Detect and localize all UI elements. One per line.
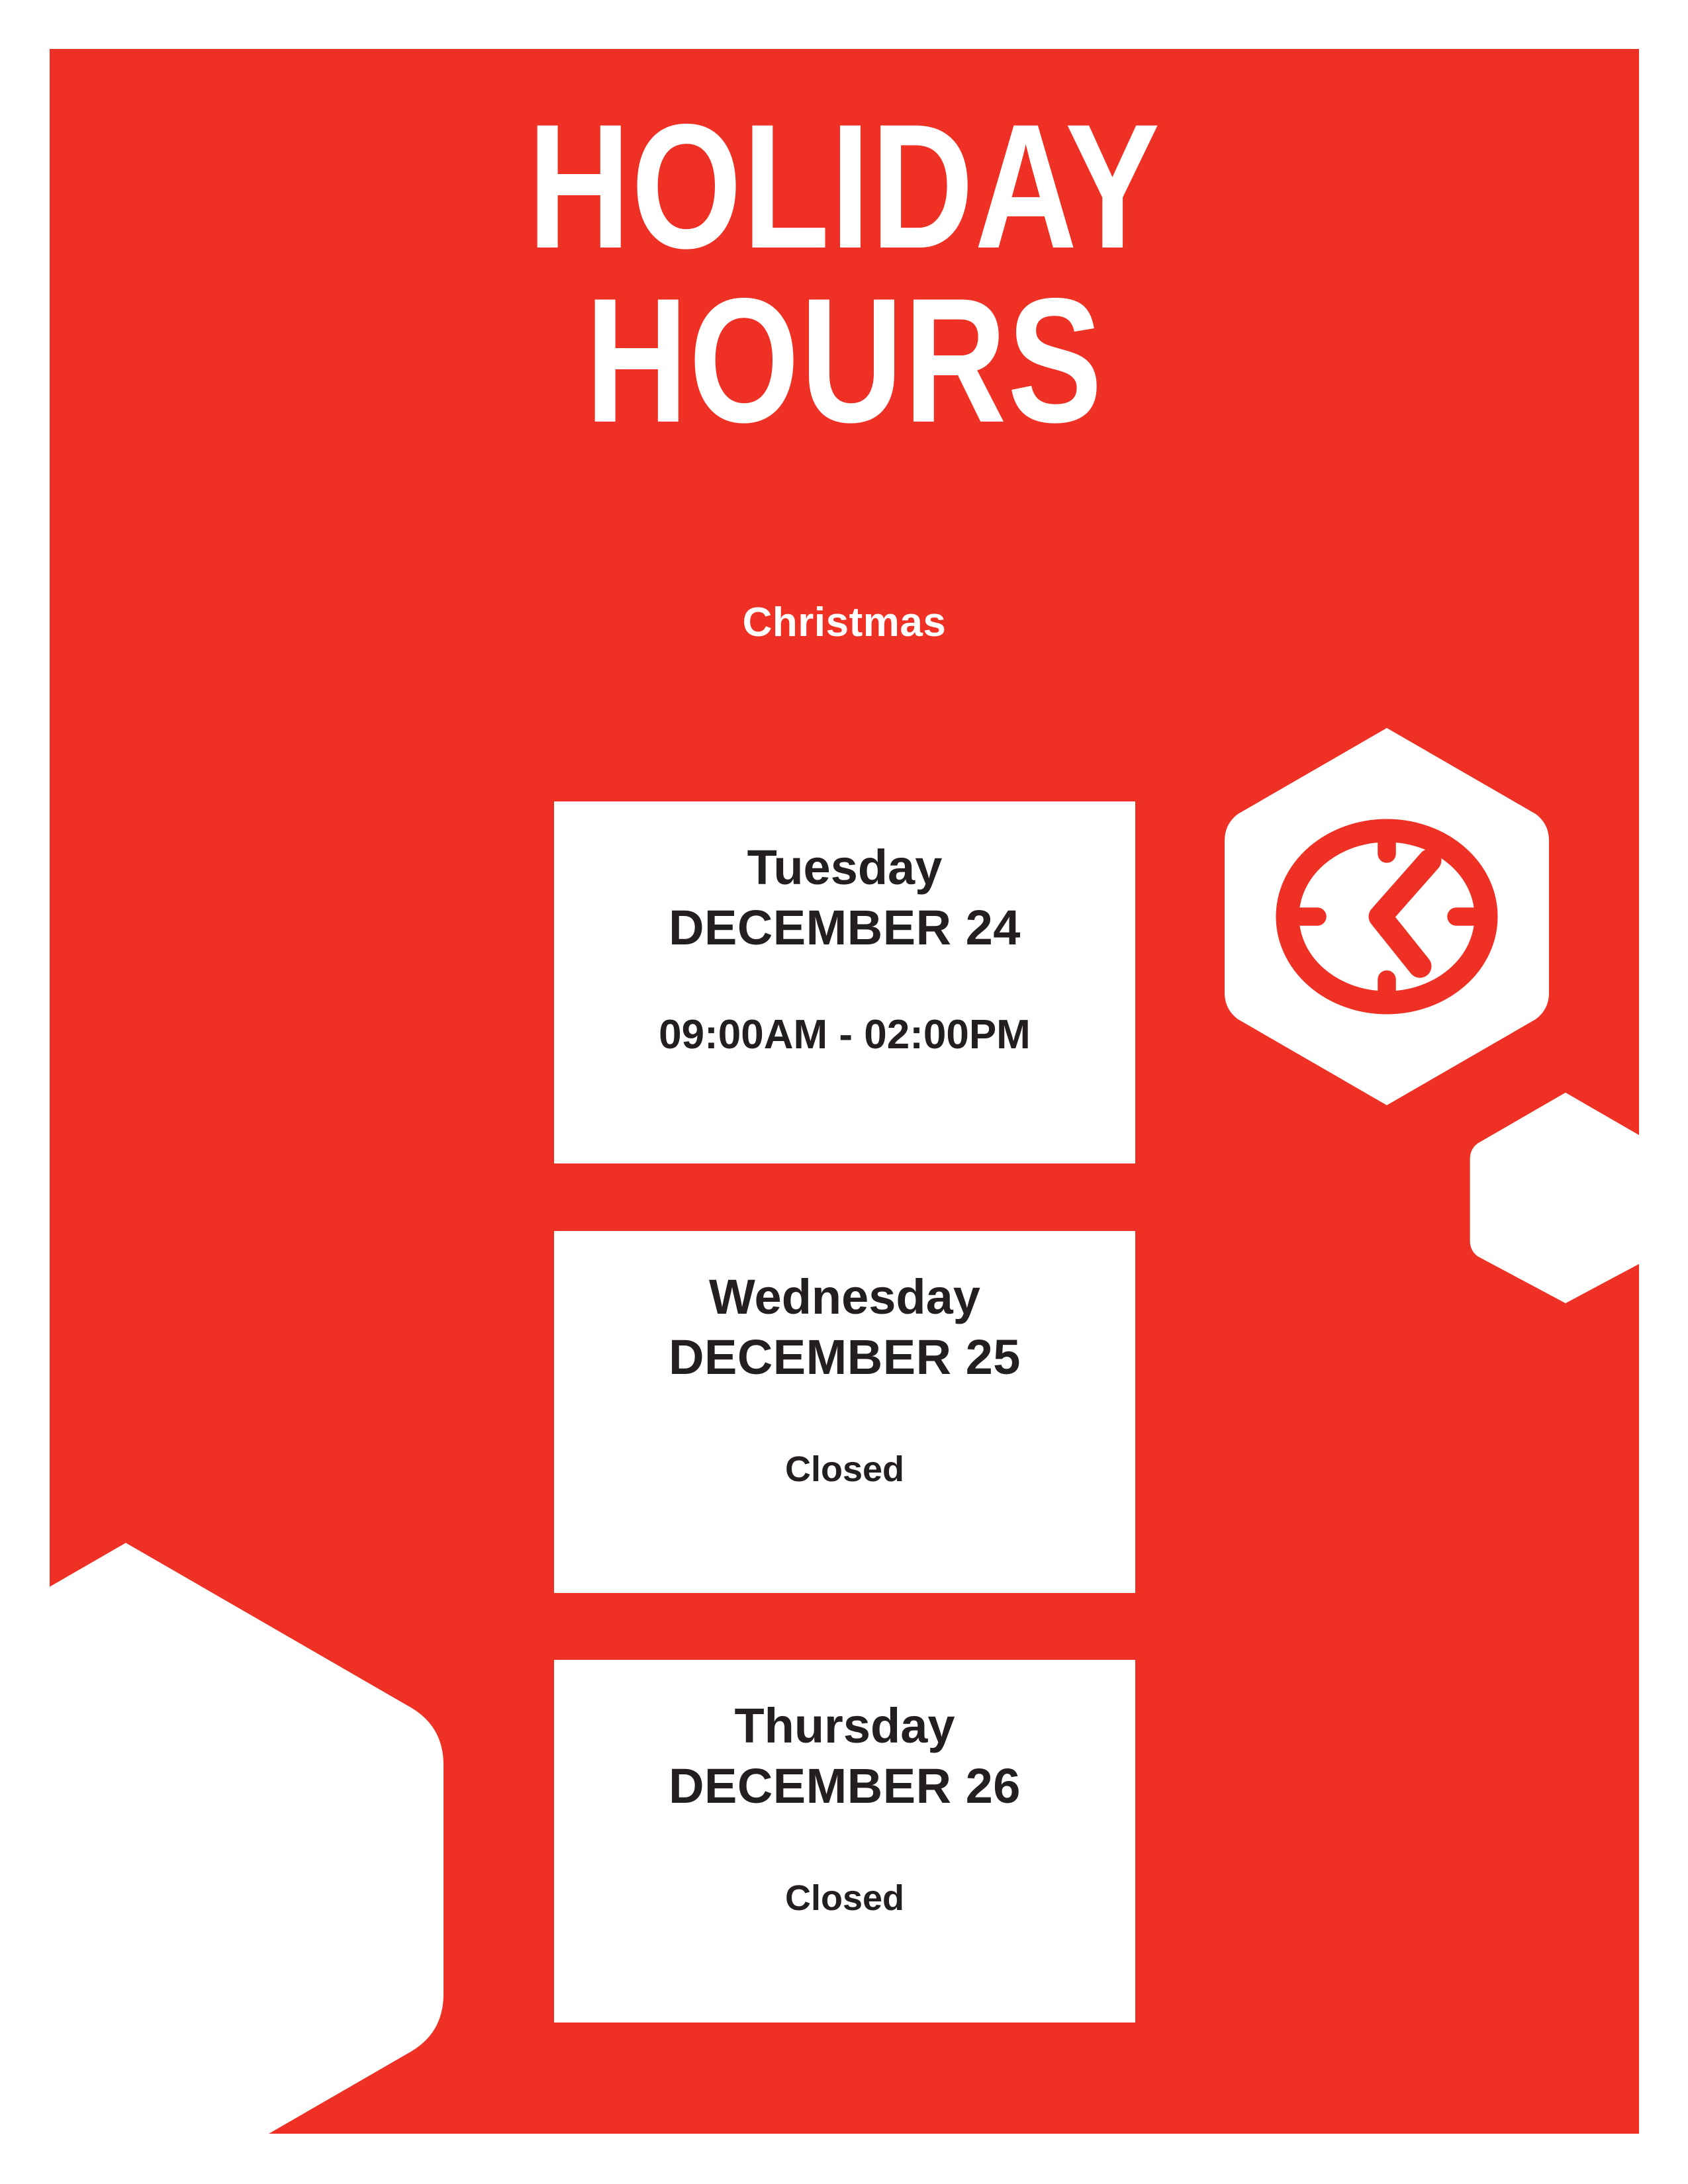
card-weekday: Wednesday <box>709 1271 980 1324</box>
card-hours: 09:00AM - 02:00PM <box>659 1011 1031 1058</box>
card-date: DECEMBER 26 <box>669 1759 1021 1814</box>
schedule-card: Tuesday DECEMBER 24 09:00AM - 02:00PM <box>554 801 1135 1163</box>
poster-subtitle: Christmas <box>50 599 1639 646</box>
schedule-card: Wednesday DECEMBER 25 Closed <box>554 1231 1135 1593</box>
holiday-hours-poster: HOLIDAY HOURS Christmas Tuesd <box>0 0 1688 2184</box>
schedule-card: Thursday DECEMBER 26 Closed <box>554 1660 1135 2023</box>
card-weekday: Thursday <box>734 1700 955 1752</box>
card-date: DECEMBER 24 <box>669 901 1021 956</box>
card-weekday: Tuesday <box>747 841 943 894</box>
card-hours: Closed <box>785 1449 904 1490</box>
card-hours: Closed <box>785 1878 904 1919</box>
card-date: DECEMBER 25 <box>669 1330 1021 1385</box>
